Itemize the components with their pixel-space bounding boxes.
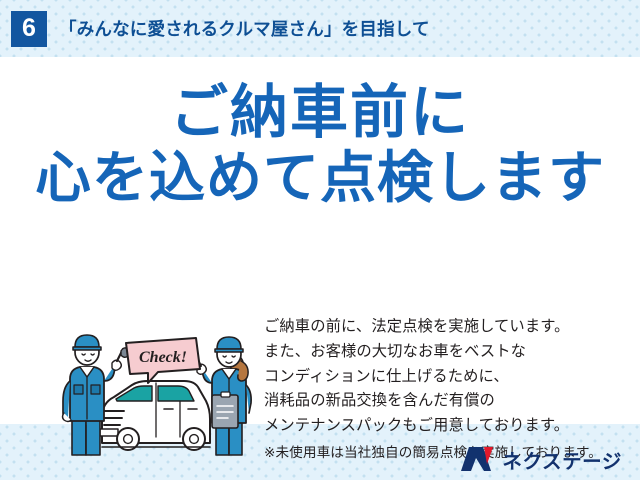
header-title: 「みんなに愛されるクルマ屋さん」を目指して [59, 16, 430, 41]
step-number-badge: 6 [11, 11, 47, 47]
clipboard-icon [212, 392, 238, 428]
body-line-2: また、お客様の大切なお車をベストな [264, 340, 624, 365]
header-bar: 6 「みんなに愛されるクルマ屋さん」を目指して [0, 0, 640, 57]
body-line-3: コンディションに仕上げるために、 [264, 365, 624, 390]
brand-logo: ネクステージ [460, 443, 622, 475]
body-line-4: 消耗品の新品交換を含んだ有償の [264, 389, 624, 414]
content-panel: ご納車前に 心を込めて点検します [0, 57, 640, 424]
brand-name: ネクステージ [502, 445, 622, 474]
mechanics-illustration: Check! [60, 325, 260, 461]
body-line-1: ご納車の前に、法定点検を実施しています。 [264, 315, 624, 340]
body-copy: ご納車の前に、法定点検を実施しています。 また、お客様の大切なお車をベストな コ… [264, 315, 624, 464]
body-line-5: メンテナンスパックもご用意しております。 [264, 414, 624, 439]
headline-line-1: ご納車前に [0, 79, 640, 146]
check-bubble-label: Check! [139, 349, 187, 366]
nextage-n-mark-icon [460, 446, 494, 472]
page-title: ご納車前に 心を込めて点検します [0, 79, 640, 211]
advertisement-root: 6 「みんなに愛されるクルマ屋さん」を目指して ご納車前に 心を込めて点検します [0, 0, 640, 480]
headline-line-2: 心を込めて点検します [0, 146, 640, 211]
van-body [100, 381, 210, 450]
